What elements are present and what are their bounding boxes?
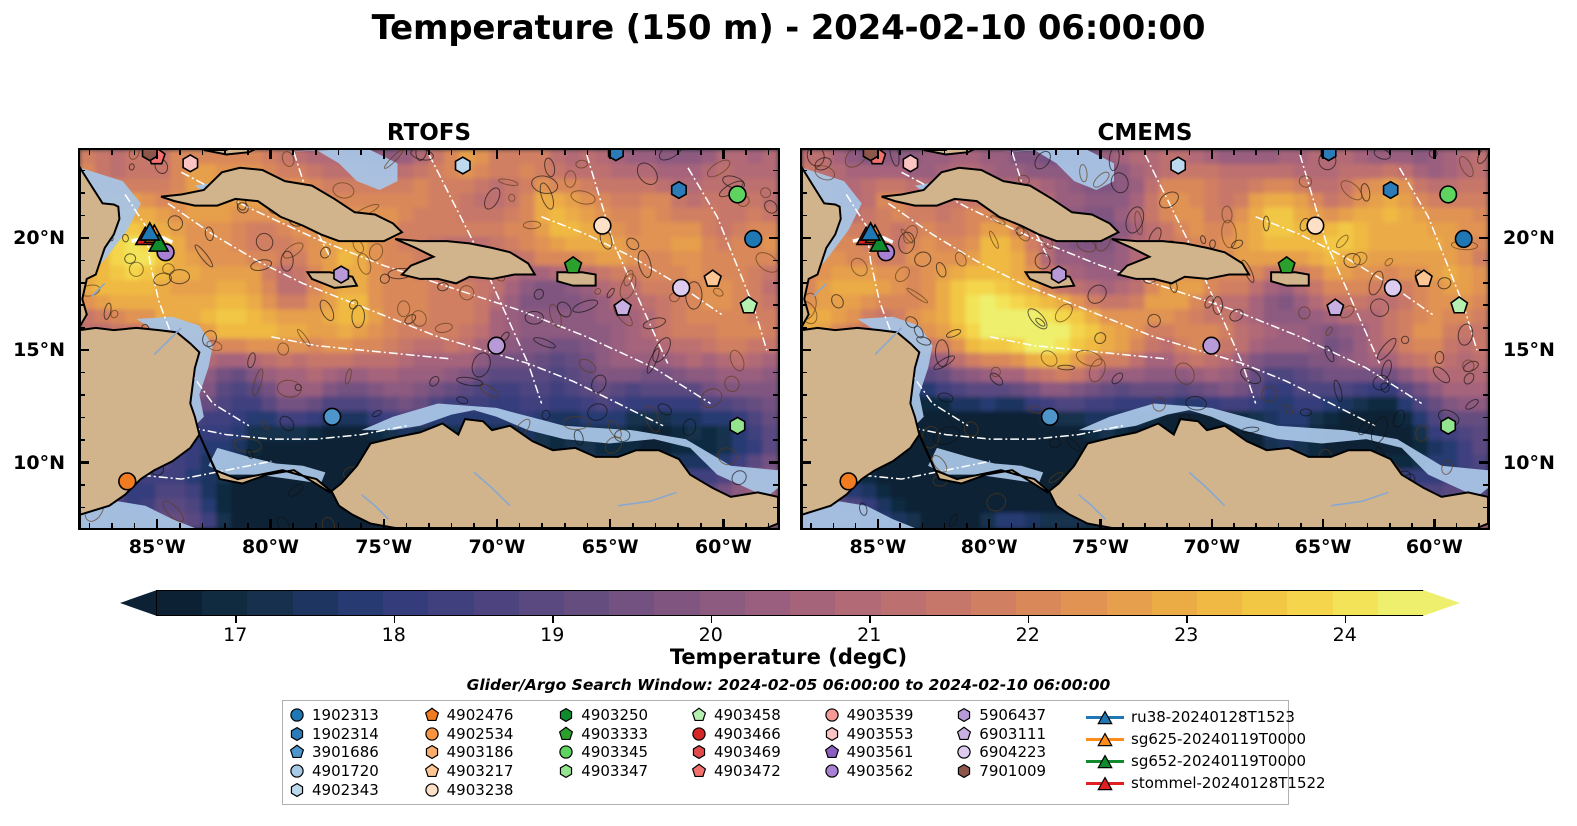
argo-float-marker[interactable] <box>1203 337 1219 354</box>
legend-item-label: 4903469 <box>714 743 781 761</box>
colorbar-swatch <box>1061 591 1106 615</box>
axis-tick-lon <box>111 523 113 530</box>
axis-tick-lon <box>1411 523 1413 530</box>
axis-tick-lon <box>966 148 968 155</box>
axis-label-lon: 60°W <box>1406 536 1463 558</box>
legend-marker <box>956 744 972 760</box>
colorbar-tick <box>711 616 713 623</box>
argo-float-marker[interactable] <box>1307 217 1323 234</box>
axis-tick-lat <box>78 372 85 374</box>
circle-marker-icon <box>691 726 707 742</box>
axis-tick-lon <box>496 148 498 159</box>
circle-marker-icon <box>289 707 305 723</box>
axis-label-lat: 15°N <box>13 339 65 361</box>
axis-tick-lon <box>292 148 294 155</box>
axis-tick-lon <box>1122 148 1124 155</box>
axis-tick-lon <box>988 148 990 159</box>
axis-tick-lon <box>1166 148 1168 155</box>
axis-tick-lon <box>247 523 249 530</box>
argo-float-marker[interactable] <box>594 217 611 234</box>
legend-item[interactable]: 4902476 <box>424 706 559 725</box>
colorbar-gradient <box>156 590 1424 616</box>
axis-tick-lon <box>855 523 857 530</box>
axis-tick-lon <box>899 523 901 530</box>
axis-tick-lon <box>428 148 430 155</box>
legend-item[interactable]: 6903111 <box>956 725 1086 744</box>
axis-tick-lon <box>269 148 271 159</box>
glider-line-marker <box>1086 774 1124 792</box>
colorbar-tick <box>552 616 554 623</box>
axis-tick-lat <box>800 417 807 419</box>
axis-label-lat: 15°N <box>1503 339 1555 361</box>
axis-tick-lon <box>722 519 724 530</box>
axis-tick-lon <box>1278 523 1280 530</box>
axis-tick-lon <box>609 148 611 159</box>
axis-label-lat: 20°N <box>13 227 65 249</box>
axis-tick-lat <box>78 304 85 306</box>
axis-tick-lat <box>800 192 807 194</box>
legend-item-label: 5906437 <box>979 706 1046 724</box>
axis-tick-lon <box>1189 523 1191 530</box>
circle-marker-icon <box>424 726 440 742</box>
axis-tick-lon <box>1077 148 1079 155</box>
axis-tick-lon <box>1033 523 1035 530</box>
colorbar-swatch <box>654 591 699 615</box>
argo-float-marker[interactable] <box>456 157 470 174</box>
legend-item[interactable]: 6904223 <box>956 743 1086 762</box>
pentagon-marker-icon <box>424 763 440 779</box>
colorbar[interactable]: 1718192021222324 <box>120 590 1460 616</box>
axis-tick-lon <box>1099 148 1101 159</box>
legend-marker <box>824 726 840 742</box>
legend-marker <box>289 707 305 723</box>
axis-tick-lon <box>855 148 857 155</box>
argo-float-marker[interactable] <box>672 182 686 199</box>
legend-item[interactable]: 4903250 <box>558 706 691 725</box>
colorbar-tick-label: 23 <box>1174 624 1198 646</box>
axis-tick-lon <box>899 148 901 155</box>
triangle-marker-icon <box>1097 710 1113 725</box>
axis-tick-lon <box>1456 523 1458 530</box>
axis-tick-lat <box>78 170 85 172</box>
axis-tick-lon <box>473 523 475 530</box>
axis-tick-lon <box>519 148 521 155</box>
axis-tick-lon <box>810 148 812 155</box>
colorbar-swatch <box>1107 591 1152 615</box>
legend-item-glider[interactable]: sg625-20240119T0000 <box>1086 728 1282 750</box>
argo-float-marker[interactable] <box>729 186 746 203</box>
axis-tick-lat <box>773 260 780 262</box>
map-panel-cmems[interactable] <box>800 148 1490 530</box>
argo-float-marker[interactable] <box>1052 266 1066 283</box>
argo-float-marker[interactable] <box>903 155 917 172</box>
axis-tick-lat <box>773 327 780 329</box>
argo-float-marker[interactable] <box>1441 417 1455 434</box>
axis-tick-lon <box>428 523 430 530</box>
legend-item[interactable]: 4903472 <box>691 762 824 781</box>
axis-tick-lat <box>800 484 807 486</box>
legend-item[interactable]: 4903217 <box>424 762 559 781</box>
figure-title: Temperature (150 m) - 2024-02-10 06:00:0… <box>0 8 1577 48</box>
argo-float-marker[interactable] <box>1042 408 1058 425</box>
axis-tick-lon <box>768 148 770 155</box>
glider-line-marker <box>1086 752 1124 770</box>
argo-float-marker[interactable] <box>1385 280 1401 297</box>
axis-tick-lon <box>224 148 226 155</box>
axis-tick-lat <box>78 394 85 396</box>
argo-float-marker[interactable] <box>183 155 197 172</box>
axis-tick-lat <box>1479 349 1490 351</box>
legend-item[interactable]: 4903562 <box>824 762 957 781</box>
colorbar-tick-label: 19 <box>540 624 564 646</box>
axis-tick-lon <box>1367 148 1369 155</box>
axis-tick-lat <box>800 215 807 217</box>
axis-tick-lat <box>78 417 85 419</box>
colorbar-swatch <box>474 591 519 615</box>
legend-item[interactable]: 4903561 <box>824 743 957 762</box>
legend-item[interactable]: 1902314 <box>289 725 424 744</box>
colorbar-tick-label: 18 <box>382 624 406 646</box>
legend-marker <box>558 707 574 723</box>
legend-item-label: 4902343 <box>312 781 379 799</box>
legend-item-label: ru38-20240128T1523 <box>1131 708 1295 726</box>
axis-tick-lon <box>1278 148 1280 155</box>
search-window-text: Glider/Argo Search Window: 2024-02-05 06… <box>0 676 1577 694</box>
legend-marker <box>956 707 972 723</box>
legend-column: 5906437690311169042237901009 <box>956 706 1086 799</box>
axis-tick-lat <box>1483 394 1490 396</box>
axis-tick-lat <box>800 349 811 351</box>
axis-tick-lat <box>78 282 85 284</box>
axis-tick-lon <box>202 148 204 155</box>
colorbar-tick <box>394 616 396 623</box>
axis-label-lat: 10°N <box>1503 452 1555 474</box>
axis-tick-lat <box>1483 507 1490 509</box>
legend[interactable]: 1902313190231439016864901720490234349024… <box>282 700 1289 805</box>
legend-item-label: 4903345 <box>581 743 648 761</box>
axis-tick-lat <box>78 484 85 486</box>
axis-tick-lon <box>632 523 634 530</box>
axis-tick-lon <box>519 523 521 530</box>
pentagon-marker-icon <box>691 707 707 723</box>
legend-item[interactable]: 7901009 <box>956 762 1086 781</box>
axis-tick-lat <box>800 282 807 284</box>
argo-float-marker[interactable] <box>1384 182 1398 199</box>
legend-marker <box>289 744 305 760</box>
axis-tick-lon <box>473 148 475 155</box>
axis-tick-lat <box>1483 484 1490 486</box>
axis-tick-lon <box>587 523 589 530</box>
legend-item[interactable]: 5906437 <box>956 706 1086 725</box>
axis-tick-lat <box>1479 237 1490 239</box>
legend-marker <box>824 744 840 760</box>
axis-label-lat: 20°N <box>1503 227 1555 249</box>
legend-item-label: 1902313 <box>312 706 379 724</box>
axis-tick-lon <box>609 519 611 530</box>
axis-tick-lon <box>1389 523 1391 530</box>
axis-tick-lon <box>966 523 968 530</box>
argo-float-marker[interactable] <box>840 473 856 490</box>
axis-tick-lon <box>745 148 747 155</box>
circle-marker-icon <box>824 763 840 779</box>
colorbar-swatch <box>1152 591 1197 615</box>
legend-marker <box>956 726 972 742</box>
legend-marker <box>956 763 972 779</box>
legend-marker <box>691 744 707 760</box>
circle-marker-icon <box>424 782 440 798</box>
hexagon-marker-icon <box>289 726 305 742</box>
axis-tick-lat <box>1483 304 1490 306</box>
pentagon-marker-icon <box>824 744 840 760</box>
legend-column: 49024764902534490318649032174903238 <box>424 706 559 799</box>
axis-tick-lon <box>1011 523 1013 530</box>
axis-tick-lat <box>1483 417 1490 419</box>
legend-item-label: 4903472 <box>714 762 781 780</box>
axis-tick-lon <box>1389 148 1391 155</box>
legend-item[interactable]: 4903458 <box>691 706 824 725</box>
axis-tick-lat <box>773 215 780 217</box>
legend-item[interactable]: 4903466 <box>691 725 824 744</box>
axis-tick-lat <box>800 461 811 463</box>
axis-tick-lon <box>587 148 589 155</box>
legend-item[interactable]: 4903186 <box>424 743 559 762</box>
axis-tick-lon <box>700 148 702 155</box>
axis-tick-lon <box>1077 523 1079 530</box>
axis-tick-lon <box>1255 523 1257 530</box>
colorbar-swatch <box>157 591 202 615</box>
axis-tick-lon <box>406 523 408 530</box>
axis-tick-lon <box>655 523 657 530</box>
colorbar-tick-label: 24 <box>1333 624 1357 646</box>
legend-item-glider[interactable]: ru38-20240128T1523 <box>1086 706 1282 728</box>
legend-item-label: 1902314 <box>312 725 379 743</box>
triangle-marker-icon <box>1097 754 1113 770</box>
triangle-marker-icon <box>1097 754 1113 769</box>
axis-label-lon: 75°W <box>1072 536 1129 558</box>
axis-tick-lat <box>769 349 780 351</box>
axis-tick-lat <box>1483 192 1490 194</box>
legend-item[interactable]: 4903333 <box>558 725 691 744</box>
axis-tick-lat <box>78 260 85 262</box>
colorbar-swatch <box>247 591 292 615</box>
axis-label-lon: 60°W <box>695 536 752 558</box>
legend-item[interactable]: 4903469 <box>691 743 824 762</box>
colorbar-swatch <box>881 591 926 615</box>
legend-marker <box>691 707 707 723</box>
legend-item-label: 4902534 <box>447 725 514 743</box>
argo-float-marker[interactable] <box>488 337 505 354</box>
axis-tick-lat <box>78 349 89 351</box>
axis-tick-lon <box>1033 148 1035 155</box>
argo-float-marker[interactable] <box>730 417 744 434</box>
legend-item[interactable]: 4903347 <box>558 762 691 781</box>
colorbar-swatch <box>338 591 383 615</box>
axis-tick-lon <box>111 148 113 155</box>
legend-item-label: sg652-20240119T0000 <box>1131 752 1306 770</box>
colorbar-swatch <box>926 591 971 615</box>
axis-tick-lat <box>773 439 780 441</box>
axis-label-lon: 70°W <box>468 536 525 558</box>
axis-tick-lon <box>922 523 924 530</box>
axis-tick-lat <box>800 237 811 239</box>
colorbar-swatch <box>519 591 564 615</box>
legend-item-label: 4903539 <box>847 706 914 724</box>
axis-tick-lon <box>877 519 879 530</box>
legend-item[interactable]: 4903345 <box>558 743 691 762</box>
axis-tick-lon <box>810 523 812 530</box>
axis-tick-lon <box>1211 148 1213 159</box>
legend-item-label: 3901686 <box>312 743 379 761</box>
hexagon-marker-icon <box>691 744 707 760</box>
legend-item-glider[interactable]: stommel-20240128T1522 <box>1086 772 1282 794</box>
colorbar-swatch <box>1016 591 1061 615</box>
legend-marker <box>424 707 440 723</box>
argo-float-marker[interactable] <box>334 266 348 283</box>
legend-item[interactable]: 4903553 <box>824 725 957 744</box>
axis-tick-lat <box>769 237 780 239</box>
axis-tick-lon <box>1055 148 1057 155</box>
map-panel-rtofs[interactable] <box>78 148 780 530</box>
axis-tick-lon <box>451 148 453 155</box>
legend-item[interactable]: 4902343 <box>289 780 424 799</box>
argo-float-marker[interactable] <box>119 473 136 490</box>
legend-marker <box>424 726 440 742</box>
axis-tick-lon <box>1189 148 1191 155</box>
argo-float-marker[interactable] <box>324 408 341 425</box>
axis-tick-lon <box>1233 148 1235 155</box>
hexagon-marker-icon <box>824 726 840 742</box>
axis-tick-lon <box>1144 148 1146 155</box>
axis-tick-lon <box>877 148 879 159</box>
pentagon-marker-icon <box>956 726 972 742</box>
axis-tick-lon <box>833 523 835 530</box>
legend-item-label: 4903553 <box>847 725 914 743</box>
legend-item-glider[interactable]: sg652-20240119T0000 <box>1086 750 1282 772</box>
axis-tick-lon <box>1099 519 1101 530</box>
axis-tick-lat <box>773 282 780 284</box>
axis-tick-lon <box>1122 523 1124 530</box>
axis-tick-lon <box>451 523 453 530</box>
axis-label-lon: 65°W <box>582 536 639 558</box>
legend-item-label: 4903466 <box>714 725 781 743</box>
axis-tick-lon <box>1433 148 1435 159</box>
pentagon-marker-icon <box>289 744 305 760</box>
argo-float-marker[interactable] <box>1171 157 1185 174</box>
axis-label-lon: 70°W <box>1183 536 1240 558</box>
argo-float-marker[interactable] <box>745 231 762 248</box>
axis-tick-lon <box>677 148 679 155</box>
hexagon-marker-icon <box>956 763 972 779</box>
axis-tick-lon <box>156 519 158 530</box>
legend-item-label: 6903111 <box>979 725 1046 743</box>
circle-marker-icon <box>558 744 574 760</box>
axis-label-lon: 65°W <box>1295 536 1352 558</box>
legend-marker <box>424 782 440 798</box>
ocean-temperature-field-cmems <box>802 150 1488 528</box>
colorbar-label: Temperature (degC) <box>0 645 1577 669</box>
legend-marker <box>558 763 574 779</box>
legend-item[interactable]: 4903238 <box>424 780 559 799</box>
colorbar-swatch <box>700 591 745 615</box>
panel-title-cmems: CMEMS <box>800 120 1490 146</box>
legend-marker <box>289 763 305 779</box>
legend-item-label: 4901720 <box>312 762 379 780</box>
colorbar-swatch <box>383 591 428 615</box>
axis-tick-lon <box>745 523 747 530</box>
colorbar-swatch <box>790 591 835 615</box>
figure-canvas: Temperature (150 m) - 2024-02-10 06:00:0… <box>0 0 1577 826</box>
legend-item-label: 4903333 <box>581 725 648 743</box>
axis-tick-lon <box>722 148 724 159</box>
legend-item[interactable]: 3901686 <box>289 743 424 762</box>
legend-item[interactable]: 4903539 <box>824 706 957 725</box>
colorbar-tick <box>1186 616 1188 623</box>
colorbar-tick <box>235 616 237 623</box>
axis-tick-lon <box>922 148 924 155</box>
axis-tick-lat <box>78 327 85 329</box>
colorbar-extend-min <box>120 590 157 616</box>
pentagon-marker-icon <box>424 707 440 723</box>
colorbar-swatch <box>293 591 338 615</box>
legend-item-label: 4903458 <box>714 706 781 724</box>
legend-item-label: sg625-20240119T0000 <box>1131 730 1306 748</box>
legend-item-label: 4903186 <box>447 743 514 761</box>
colorbar-swatch <box>1197 591 1242 615</box>
hexagon-marker-icon <box>956 707 972 723</box>
axis-tick-lon <box>360 148 362 155</box>
axis-tick-lat <box>78 507 85 509</box>
axis-tick-lat <box>773 192 780 194</box>
legend-column-gliders: ru38-20240128T1523sg625-20240119T0000sg6… <box>1086 706 1282 799</box>
axis-tick-lat <box>1483 372 1490 374</box>
argo-float-marker[interactable] <box>1455 231 1471 248</box>
axis-tick-lat <box>800 327 807 329</box>
colorbar-swatch <box>428 591 473 615</box>
axis-tick-lon <box>179 523 181 530</box>
legend-marker <box>824 763 840 779</box>
argo-float-marker[interactable] <box>1440 186 1456 203</box>
axis-tick-lat <box>800 507 807 509</box>
axis-tick-lat <box>1483 282 1490 284</box>
legend-marker <box>289 726 305 742</box>
legend-column: 4903458490346649034694903472 <box>691 706 824 799</box>
axis-tick-lat <box>773 304 780 306</box>
axis-tick-lon <box>541 148 543 155</box>
axis-tick-lon <box>1300 523 1302 530</box>
triangle-marker-icon <box>1097 776 1113 791</box>
axis-tick-lon <box>1322 148 1324 159</box>
argo-float-marker[interactable] <box>673 280 690 297</box>
axis-label-lon: 85°W <box>129 536 186 558</box>
colorbar-tick <box>1345 616 1347 623</box>
axis-tick-lon <box>315 148 317 155</box>
colorbar-tick <box>1028 616 1030 623</box>
legend-item-label: 6904223 <box>979 743 1046 761</box>
axis-label-lon: 80°W <box>961 536 1018 558</box>
axis-tick-lat <box>773 372 780 374</box>
axis-tick-lat <box>800 304 807 306</box>
axis-label-lat: 10°N <box>13 452 65 474</box>
axis-tick-lon <box>944 523 946 530</box>
legend-item[interactable]: 4901720 <box>289 762 424 781</box>
colorbar-tick-label: 17 <box>223 624 247 646</box>
axis-label-lon: 75°W <box>355 536 412 558</box>
legend-item[interactable]: 4902534 <box>424 725 559 744</box>
legend-item[interactable]: 1902313 <box>289 706 424 725</box>
ocean-temperature-field-rtofs <box>80 150 778 528</box>
hexagon-marker-icon <box>424 744 440 760</box>
axis-tick-lat <box>1483 170 1490 172</box>
